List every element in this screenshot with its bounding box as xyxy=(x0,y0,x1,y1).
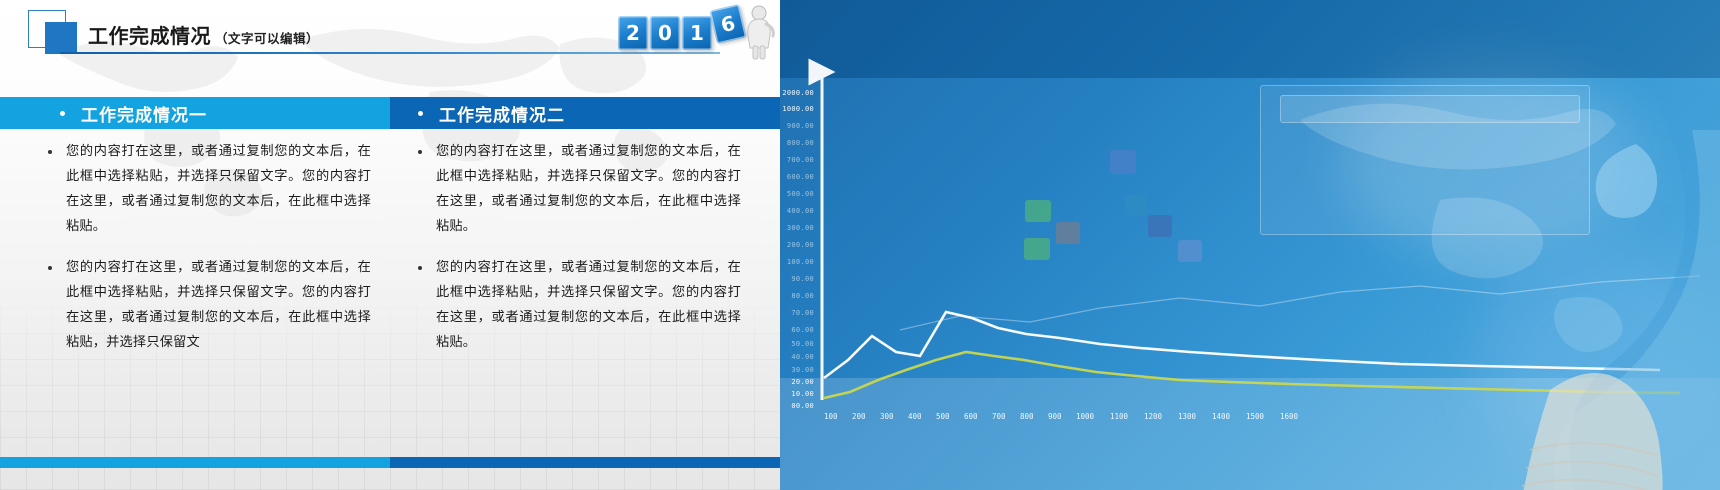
slide-header: 工作完成情况（文字可以编辑） 2 0 1 6 xyxy=(0,0,780,62)
app-tile-icon xyxy=(1110,150,1136,174)
year-digit-cube: 6 xyxy=(710,4,747,44)
year-digit-cube: 2 xyxy=(618,16,648,50)
bottom-accent-bars xyxy=(0,457,780,468)
square-solid-icon xyxy=(45,22,77,54)
list-item: 您的内容打在这里，或者通过复制您的文本后，在此框中选择粘贴，并选择只保留文字。您… xyxy=(22,255,372,355)
right-slide: 2000.00 1000.00 900.00 800.00 700.00 600… xyxy=(780,0,1720,490)
column-two-body: 您的内容打在这里，或者通过复制您的文本后，在此框中选择粘贴，并选择只保留文字。您… xyxy=(390,129,780,379)
presentation-stage: 工作完成情况（文字可以编辑） 2 0 1 6 工作完 xyxy=(0,0,1720,490)
person-figure-icon xyxy=(742,4,776,60)
column-header-two: 工作完成情况二 xyxy=(390,97,780,129)
bottom-accent-bar-light xyxy=(0,457,390,468)
bullet-dot-icon xyxy=(60,111,65,116)
left-slide: 工作完成情况（文字可以编辑） 2 0 1 6 工作完 xyxy=(0,0,780,490)
year-digit-cube: 1 xyxy=(682,16,712,50)
page-subtitle-text: （文字可以编辑） xyxy=(215,31,319,46)
list-item: 您的内容打在这里，或者通过复制您的文本后，在此框中选择粘贴，并选择只保留文字。您… xyxy=(22,139,372,239)
column-headers: 工作完成情况一 工作完成情况二 xyxy=(0,97,780,129)
bottom-accent-bar-dark xyxy=(390,457,780,468)
list-item-text: 您的内容打在这里，或者通过复制您的文本后，在此框中选择粘贴，并选择只保留文字。您… xyxy=(66,255,371,355)
column-header-one: 工作完成情况一 xyxy=(0,97,390,129)
column-header-one-label: 工作完成情况一 xyxy=(81,101,207,126)
year-digit-cube: 0 xyxy=(650,16,680,50)
app-tile-icon xyxy=(1178,240,1202,262)
app-tile-icon xyxy=(1148,215,1172,237)
year-cubes: 2 0 1 6 xyxy=(616,4,776,62)
hand-photo-decor xyxy=(1400,90,1720,490)
bullet-dot-icon xyxy=(418,266,422,270)
bullet-dot-icon xyxy=(48,266,52,270)
bullet-dot-icon xyxy=(418,111,423,116)
list-item: 您的内容打在这里，或者通过复制您的文本后，在此框中选择粘贴，并选择只保留文字。您… xyxy=(412,255,762,355)
list-item: 您的内容打在这里，或者通过复制您的文本后，在此框中选择粘贴，并选择只保留文字。您… xyxy=(412,139,762,239)
app-tile-icon xyxy=(1025,200,1051,222)
content-columns: 您的内容打在这里，或者通过复制您的文本后，在此框中选择粘贴，并选择只保留文字。您… xyxy=(0,129,780,379)
list-item-text: 您的内容打在这里，或者通过复制您的文本后，在此框中选择粘贴，并选择只保留文字。您… xyxy=(66,139,371,239)
list-item-text: 您的内容打在这里，或者通过复制您的文本后，在此框中选择粘贴，并选择只保留文字。您… xyxy=(436,139,741,239)
list-item-text: 您的内容打在这里，或者通过复制您的文本后，在此框中选择粘贴，并选择只保留文字。您… xyxy=(436,255,741,355)
page-title: 工作完成情况（文字可以编辑） xyxy=(88,20,319,49)
bullet-dot-icon xyxy=(48,150,52,154)
app-tile-icon xyxy=(1125,195,1147,215)
page-title-text: 工作完成情况 xyxy=(88,24,211,48)
bullet-dot-icon xyxy=(418,150,422,154)
app-tile-icon xyxy=(1056,222,1080,244)
column-one-body: 您的内容打在这里，或者通过复制您的文本后，在此框中选择粘贴，并选择只保留文字。您… xyxy=(0,129,390,379)
app-tile-icon xyxy=(1024,238,1050,260)
column-header-two-label: 工作完成情况二 xyxy=(439,101,565,126)
